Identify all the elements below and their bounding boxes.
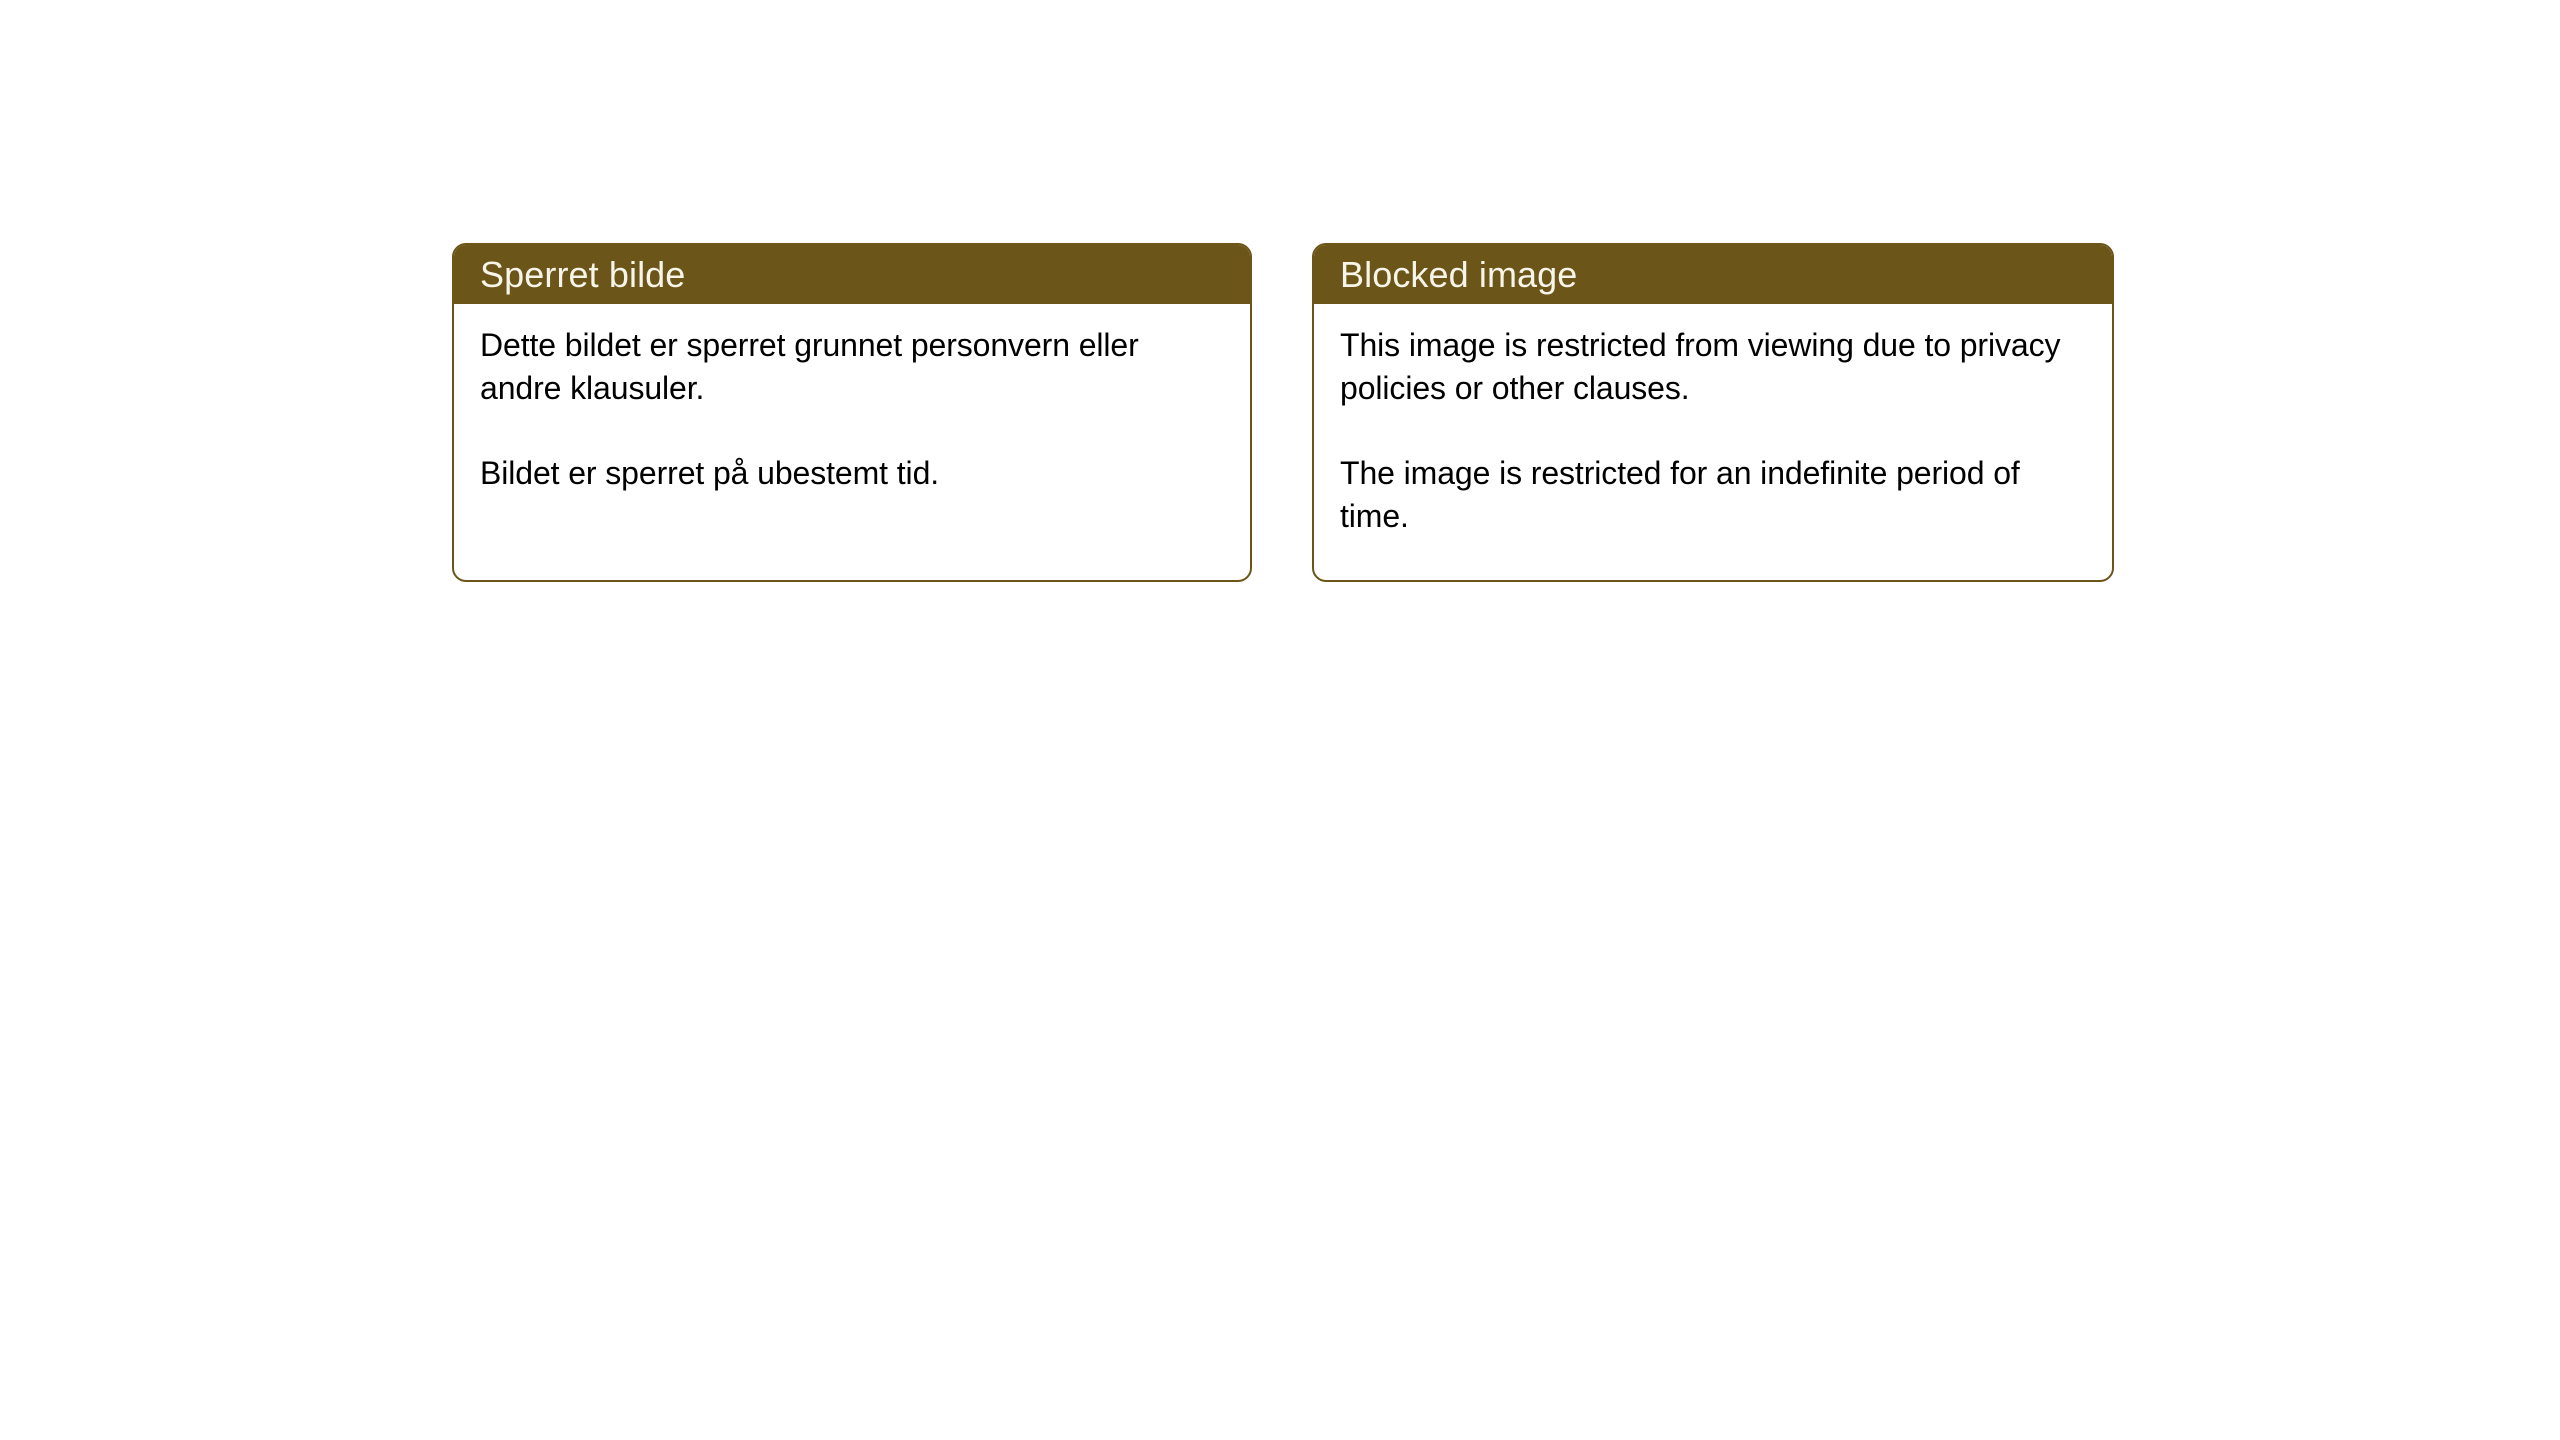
card-title-english: Blocked image xyxy=(1340,257,1577,293)
blocked-image-card-english: Blocked image This image is restricted f… xyxy=(1312,243,2114,582)
card-title-norwegian: Sperret bilde xyxy=(480,257,685,293)
card-paragraph-secondary-norwegian: Bildet er sperret på ubestemt tid. xyxy=(480,452,1228,495)
card-header-norwegian: Sperret bilde xyxy=(454,245,1250,304)
card-body-norwegian: Dette bildet er sperret grunnet personve… xyxy=(454,304,1250,495)
card-paragraph-secondary-english: The image is restricted for an indefinit… xyxy=(1340,452,2090,538)
card-header-english: Blocked image xyxy=(1314,245,2112,304)
card-paragraph-primary-english: This image is restricted from viewing du… xyxy=(1340,324,2090,410)
card-body-english: This image is restricted from viewing du… xyxy=(1314,304,2112,538)
blocked-image-card-norwegian: Sperret bilde Dette bildet er sperret gr… xyxy=(452,243,1252,582)
card-paragraph-primary-norwegian: Dette bildet er sperret grunnet personve… xyxy=(480,324,1228,410)
page-canvas: Sperret bilde Dette bildet er sperret gr… xyxy=(0,0,2560,1440)
